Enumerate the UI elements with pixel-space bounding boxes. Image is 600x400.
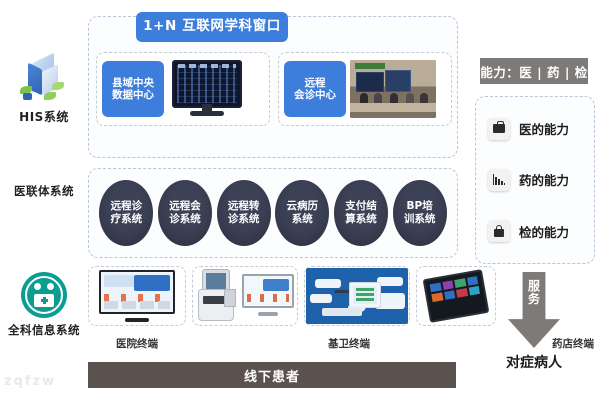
rail-item-general-practice[interactable]: 全科信息系统 [2, 272, 86, 338]
hospital-tv-screen [99, 270, 175, 314]
terminal-community-frame [192, 266, 298, 326]
desktop-monitor-image [168, 60, 246, 118]
tile-county-data-center[interactable]: 县域中央 数据中心 [102, 61, 164, 117]
tile-line2: 会诊中心 [294, 89, 336, 101]
system-ellipse[interactable]: 远程转 诊系统 [217, 180, 271, 246]
rail-label-his: HIS系统 [2, 108, 86, 125]
capability-header: 能力：医 | 药 | 检 [480, 58, 588, 84]
service-arrow: 服务 [508, 272, 560, 348]
system-line1: 远程转 [228, 200, 260, 212]
tile-line2: 数据中心 [112, 89, 154, 101]
terminal-row: 医院终端 基卫终端 药店终端 [88, 266, 456, 338]
terminal-hospital[interactable]: 医院终端 [88, 266, 186, 326]
terminal-pharmacy-frame [304, 266, 410, 326]
system-line2: 诊系统 [228, 213, 260, 225]
capability-panel: 医的能力 药的能力 检的能力 [475, 96, 595, 264]
system-ellipse[interactable]: 支付结 算系统 [334, 180, 388, 246]
kiosk-device-icon [198, 269, 232, 321]
system-ellipse[interactable]: BP培 训系统 [393, 180, 447, 246]
terminal-hospital-frame [88, 266, 186, 326]
kiosk-monitor-icon [242, 274, 294, 316]
infographic-canvas: HIS系统 医联体系统 全科信息系统 1+N 互联网学科窗口 县域中央 数据中心 [0, 0, 600, 400]
system-line2: 训系统 [404, 213, 436, 225]
union-panel: 远程诊 疗系统 远程会 诊系统 远程转 诊系统 云病历 系统 支付结 算系统 B… [88, 168, 458, 258]
system-ellipse[interactable]: 远程会 诊系统 [158, 180, 212, 246]
offline-patients-bar: 线下患者 [88, 362, 456, 388]
capability-label-inspection: 检的能力 [519, 222, 569, 241]
tile-line1: 远程 [305, 77, 326, 89]
service-arrow-label: 服务 [528, 272, 541, 305]
top-banner[interactable]: 1+N 互联网学科窗口 [136, 12, 288, 42]
capability-item-medical[interactable]: 医的能力 [476, 118, 594, 140]
general-practice-icon [21, 272, 67, 318]
terminal-label-hospital: 医院终端 [88, 336, 186, 351]
capability-label-pharmacy: 药的能力 [519, 170, 569, 189]
hospital-building-icon [18, 52, 70, 104]
system-ellipse[interactable]: 远程诊 疗系统 [99, 180, 153, 246]
service-target-label: 对症病人 [486, 352, 582, 372]
system-line1: 支付结 [345, 200, 377, 212]
system-line1: 远程会 [169, 200, 201, 212]
rail-label-general-practice: 全科信息系统 [2, 322, 86, 338]
tablet-device [423, 269, 490, 323]
watermark: zqfzw [4, 374, 56, 389]
rail-item-union[interactable]: 医联体系统 [2, 183, 86, 199]
capability-item-inspection[interactable]: 检的能力 [476, 220, 594, 242]
system-line1: BP培 [407, 200, 433, 212]
terminal-pharmacy[interactable]: 药店终端 [304, 266, 410, 326]
terminal-label-community: 基卫终端 [296, 336, 402, 351]
system-ellipse[interactable]: 云病历 系统 [275, 180, 329, 246]
pharmacy-diagram [306, 268, 408, 324]
subpanel-consultation-center: 远程 会诊中心 [278, 52, 452, 126]
system-line2: 疗系统 [111, 213, 143, 225]
terminal-home-frame [416, 266, 496, 326]
rail-item-his[interactable]: HIS系统 [2, 52, 86, 125]
bar-chart-icon [488, 169, 510, 191]
capability-item-pharmacy[interactable]: 药的能力 [476, 169, 594, 191]
system-line1: 远程诊 [111, 200, 143, 212]
lock-icon [488, 220, 510, 242]
tile-remote-consultation-center[interactable]: 远程 会诊中心 [284, 61, 346, 117]
briefcase-icon [488, 118, 510, 140]
system-line2: 诊系统 [169, 213, 201, 225]
system-line2: 系统 [292, 213, 313, 225]
capability-label-medical: 医的能力 [519, 119, 569, 138]
system-line1: 云病历 [287, 200, 319, 212]
subpanel-data-center: 县域中央 数据中心 [96, 52, 270, 126]
conference-room-photo [350, 60, 436, 118]
terminal-home[interactable]: 家庭终端 [416, 266, 496, 326]
system-line2: 算系统 [345, 213, 377, 225]
rail-label-union: 医联体系统 [2, 183, 86, 199]
terminal-community[interactable]: 基卫终端 [192, 266, 298, 326]
tile-line1: 县域中央 [112, 77, 154, 89]
